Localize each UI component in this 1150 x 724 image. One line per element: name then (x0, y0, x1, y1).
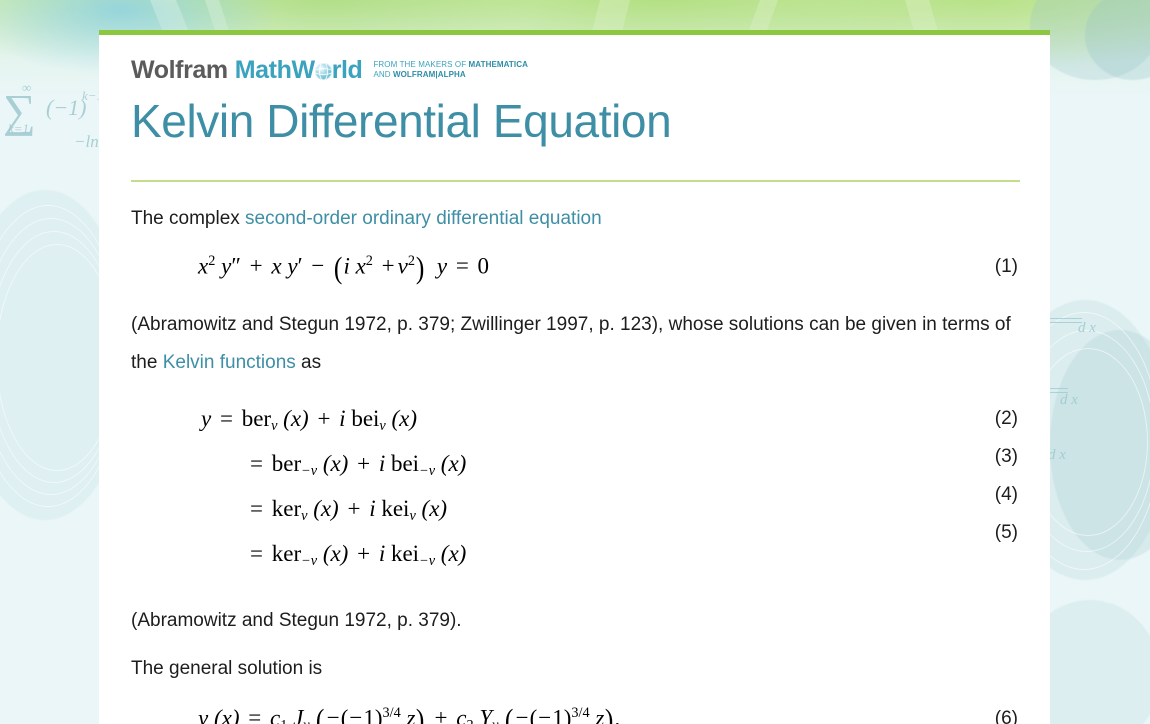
logo-mathworld-text: MathWrld (235, 57, 363, 83)
paragraph-intro: The complex second-order ordinary differ… (131, 200, 1011, 238)
equation-5-number: (5) (995, 514, 1018, 552)
logo-wolfram-text: Wolfram (131, 57, 228, 83)
bg-sigma-upper: ∞ (22, 80, 31, 96)
logo-world-rest: rld (332, 57, 363, 83)
paragraph-citation-1: (Abramowitz and Stegun 1972, p. 379; Zwi… (131, 306, 1011, 382)
equation-3-row: = ber−ν (x) + i bei−ν (x) (3) (131, 445, 1018, 490)
equation-group-2-5: y = berν (x) + i beiν (x) (2) = ber−ν (x… (131, 400, 1018, 580)
equation-6-number: (6) (995, 708, 1018, 724)
title-divider (131, 180, 1020, 182)
equation-4-row: = kerν (x) + i keiν (x) (4) (131, 490, 1018, 535)
page-title: Kelvin Differential Equation (131, 93, 1018, 149)
site-logo[interactable]: Wolfram MathWrld FROM THE MAKERS OF MATH… (131, 57, 1018, 85)
equation-6-block: y (x) = c1 Jν (−(−1)3/4 z) + c2 Yν (−(−1… (131, 702, 1018, 724)
bg-neg-ln: −ln (74, 132, 99, 152)
equation-3-number: (3) (995, 438, 1018, 476)
equation-3: = ber−ν (x) + i bei−ν (x) (131, 451, 466, 476)
paragraph-citation-1-post: as (296, 352, 321, 373)
paragraph-citation-2: (Abramowitz and Stegun 1972, p. 379). (131, 602, 1011, 640)
equation-1: x2 y″ + x y′ − (i x2 +ν2) y = 0 (131, 250, 1018, 286)
link-second-order-ode[interactable]: second-order ordinary differential equat… (245, 208, 602, 229)
tagline-line-2: AND WOLFRAM|ALPHA (373, 70, 528, 80)
bg-right-dx-2: d x (1060, 392, 1078, 409)
equation-1-block: x2 y″ + x y′ − (i x2 +ν2) y = 0 (1) (131, 250, 1018, 286)
bg-sigma-lower: k=1 (8, 121, 29, 137)
logo-tagline: FROM THE MAKERS OF MATHEMATICA AND WOLFR… (373, 60, 528, 79)
tagline-brand-mathematica: MATHEMATICA (469, 60, 528, 69)
tagline-line2-pre: AND (373, 70, 393, 79)
paragraph-intro-text: The complex (131, 208, 245, 229)
tagline-brand-wolframalpha: WOLFRAM|ALPHA (393, 70, 466, 79)
bg-neg-one: (−1) (46, 95, 87, 121)
equation-4-number: (4) (995, 476, 1018, 514)
equation-5: = ker−ν (x) + i kei−ν (x) (131, 541, 466, 566)
equation-6: y (x) = c1 Jν (−(−1)3/4 z) + c2 Yν (−(−1… (131, 702, 1018, 724)
logo-world-w: W (291, 57, 314, 83)
equation-4: = kerν (x) + i keiν (x) (131, 496, 447, 521)
link-kelvin-functions[interactable]: Kelvin functions (163, 352, 296, 373)
globe-icon (315, 63, 332, 80)
bg-right-dx-3: d x (1048, 447, 1066, 464)
equation-2: y = berν (x) + i beiν (x) (131, 406, 417, 431)
background-decoration-left: ∑ ∞ k=1 (−1) k−1 −ln (0, 0, 110, 724)
equation-2-number: (2) (995, 400, 1018, 438)
tagline-line-1: FROM THE MAKERS OF MATHEMATICA (373, 60, 528, 70)
equation-5-row: = ker−ν (x) + i kei−ν (x) (5) (131, 535, 1018, 580)
tagline-line1-pre: FROM THE MAKERS OF (373, 60, 468, 69)
paragraph-general-solution: The general solution is (131, 650, 1011, 688)
equation-2-row: y = berν (x) + i beiν (x) (2) (131, 400, 1018, 445)
equation-1-number: (1) (995, 256, 1018, 278)
logo-math-word: Math (235, 57, 292, 83)
article-card: Wolfram MathWrld FROM THE MAKERS OF MATH… (99, 30, 1050, 724)
